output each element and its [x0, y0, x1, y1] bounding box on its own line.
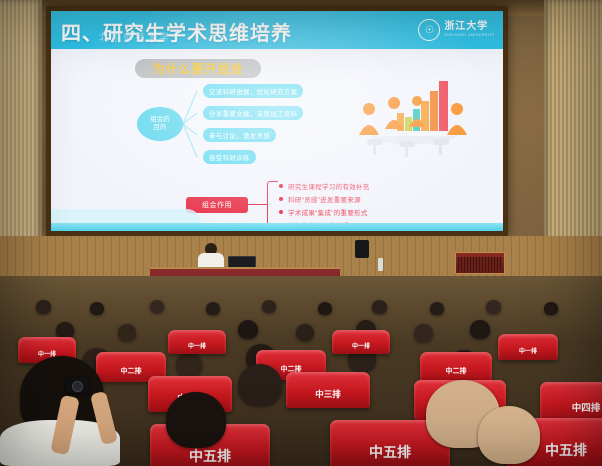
audience-head: [118, 324, 136, 341]
audience-head: [318, 302, 332, 315]
mindmap-center-node: 组会的 目的: [137, 107, 183, 141]
seat-row-label: 中四排: [540, 400, 602, 414]
amplifier-unit: [455, 252, 505, 274]
bullet-dot-icon: [279, 184, 283, 188]
audience-head: [372, 300, 387, 314]
team-meeting-bar-chart-illustration: [347, 69, 479, 161]
mindmap-branch-2-label: 分享重要文献，深度加工资料: [209, 108, 297, 118]
audience-head-foreground: [478, 406, 540, 464]
seat-row-label: 中二排: [96, 366, 166, 376]
presentation-slide: 四、研究生学术思维培养 北京师范大学 ☉ 浙江大学 ZHEJIANG UNIVE…: [51, 11, 503, 231]
seat: 中三排: [286, 372, 370, 408]
red-section-stem: [248, 204, 267, 205]
audience-head-foreground: [166, 392, 226, 448]
mindmap-branch-4-label: 接受科研训练: [209, 152, 250, 162]
lecture-hall-photo: 四、研究生学术思维培养 北京师范大学 ☉ 浙江大学 ZHEJIANG UNIVE…: [0, 0, 602, 466]
bullet-text: 学术成果“集成”的重要形式: [288, 207, 368, 217]
seat: 中二排: [420, 352, 492, 382]
audience-head: [36, 300, 51, 314]
bullet-item: 研究生课程学习的有效补充: [279, 179, 370, 192]
mindmap-branch-3: 参与讨论，激发灵感: [203, 128, 276, 142]
audience-head: [150, 300, 164, 313]
audience-head: [470, 320, 490, 339]
audience-head: [414, 324, 433, 342]
seat-row-label: 中五排: [330, 442, 450, 462]
bullet-text: 研究生课程学习的有效补充: [288, 181, 370, 191]
bullet-item: 学术成果“集成”的重要形式: [279, 205, 370, 218]
audience-head: [238, 320, 258, 339]
seat-row-label: 中二排: [420, 366, 492, 376]
amplifier-grill: [458, 257, 502, 271]
bullet-dot-icon: [279, 210, 283, 214]
wall-speaker-icon: [355, 240, 369, 258]
audience-head: [486, 300, 501, 314]
seat: 中四排: [540, 382, 602, 422]
seat-row-label: 中一排: [332, 341, 390, 350]
seat-row-label: 中一排: [498, 346, 558, 355]
audience-head: [430, 302, 444, 315]
seat: 中一排: [498, 334, 558, 360]
seat-row-label: 中三排: [286, 388, 370, 400]
audience-head-foreground: [238, 364, 282, 406]
bullet-text: 科研“灵感”迸发重要来源: [288, 194, 361, 204]
mindmap-branch-4: 接受科研训练: [203, 150, 256, 164]
audience-head: [176, 352, 202, 377]
slide-corner-shape: [51, 209, 201, 223]
projection-screen: 四、研究生学术思维培养 北京师范大学 ☉ 浙江大学 ZHEJIANG UNIVE…: [46, 6, 508, 236]
mindmap-branch-3-label: 参与讨论，激发灵感: [209, 130, 270, 140]
audience-head: [544, 302, 558, 315]
seat: 中一排: [332, 330, 390, 354]
slide-footer-band: [51, 223, 503, 231]
water-bottle: [378, 258, 383, 271]
audience-head: [296, 324, 314, 341]
audience-head: [90, 302, 104, 315]
camera-lens-icon: [72, 381, 83, 392]
red-section-label: 组会作用: [186, 197, 248, 213]
seat-row-label: 中一排: [168, 341, 226, 350]
seat: 中一排: [168, 330, 226, 354]
seat-row-label: 中五排: [150, 446, 270, 466]
mindmap-branch-1-label: 交流科研进展，优化研究方案: [209, 86, 297, 96]
mindmap-branch-1: 交流科研进展，优化研究方案: [203, 84, 303, 98]
mindmap-center-label: 组会的 目的: [150, 116, 170, 133]
bullet-item: 科研“灵感”迸发重要来源: [279, 192, 370, 205]
audience-head: [206, 302, 220, 315]
audience-head: [262, 300, 276, 313]
mindmap-branch-2: 分享重要文献，深度加工资料: [203, 106, 303, 120]
red-section-label-text: 组会作用: [202, 200, 232, 210]
bullet-dot-icon: [279, 197, 283, 201]
